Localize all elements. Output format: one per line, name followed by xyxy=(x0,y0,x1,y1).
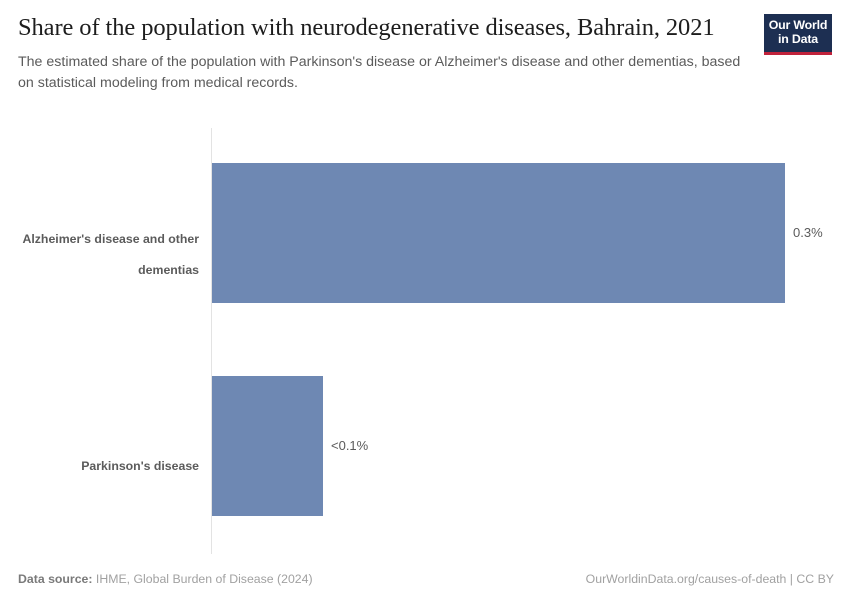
bar-rect-parkinsons[interactable] xyxy=(212,376,323,516)
bar-label-line2: dementias xyxy=(138,263,199,277)
bar-value-parkinsons: <0.1% xyxy=(331,438,368,453)
chart-subtitle: The estimated share of the population wi… xyxy=(18,52,758,92)
page-title: Share of the population with neurodegene… xyxy=(18,12,738,43)
owid-logo-line1: Our World xyxy=(768,19,828,33)
data-source-text: IHME, Global Burden of Disease (2024) xyxy=(93,572,313,586)
owid-logo[interactable]: Our World in Data xyxy=(764,14,832,55)
plot-area: Alzheimer's disease and other dementias … xyxy=(0,126,850,556)
bar-label-alzheimers: Alzheimer's disease and other dementias xyxy=(0,217,199,278)
title-block: Share of the population with neurodegene… xyxy=(18,12,758,93)
bar-value-alzheimers: 0.3% xyxy=(793,225,823,240)
bar-label-parkinsons: Parkinson's disease xyxy=(0,444,199,474)
data-source: Data source: IHME, Global Burden of Dise… xyxy=(18,572,313,586)
chart-footer: Data source: IHME, Global Burden of Dise… xyxy=(0,558,850,600)
attribution-link[interactable]: OurWorldinData.org/causes-of-death | CC … xyxy=(586,572,834,586)
data-source-label: Data source: xyxy=(18,572,93,586)
chart-header: Share of the population with neurodegene… xyxy=(0,0,850,93)
owid-logo-line2: in Data xyxy=(768,33,828,47)
owid-logo-box: Our World in Data xyxy=(764,14,832,52)
title-row: Share of the population with neurodegene… xyxy=(18,12,834,93)
bar-label-line1: Alzheimer's disease and other xyxy=(22,232,199,246)
bar-rect-alzheimers[interactable] xyxy=(212,163,785,303)
bar-group-alzheimers: Alzheimer's disease and other dementias … xyxy=(0,126,850,302)
chart-container: Share of the population with neurodegene… xyxy=(0,0,850,600)
owid-logo-rule xyxy=(764,52,832,55)
bar-group-parkinsons: Parkinson's disease <0.1% xyxy=(0,339,850,515)
bar-label-line1: Parkinson's disease xyxy=(81,459,199,473)
